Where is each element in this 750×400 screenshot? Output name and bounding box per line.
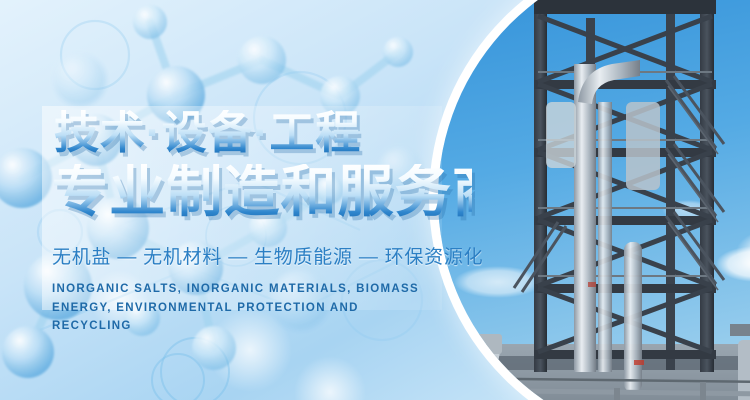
subtitle-chinese: 无机盐 — 无机材料 — 生物质能源 — 环保资源化 — [52, 242, 472, 269]
headline-line-2: 专业制造和服务商 — [52, 164, 472, 220]
banner-content: 技术·设备·工程 专业制造和服务商 无机盐 — 无机材料 — 生物质能源 — 环… — [52, 104, 472, 336]
subtitle-english: INORGANIC SALTS, INORGANIC MATERIALS, BI… — [52, 280, 424, 336]
headline-line-1: 技术·设备·工程 — [54, 110, 472, 155]
promo-banner: 技术·设备·工程 专业制造和服务商 无机盐 — 无机材料 — 生物质能源 — 环… — [0, 0, 750, 400]
